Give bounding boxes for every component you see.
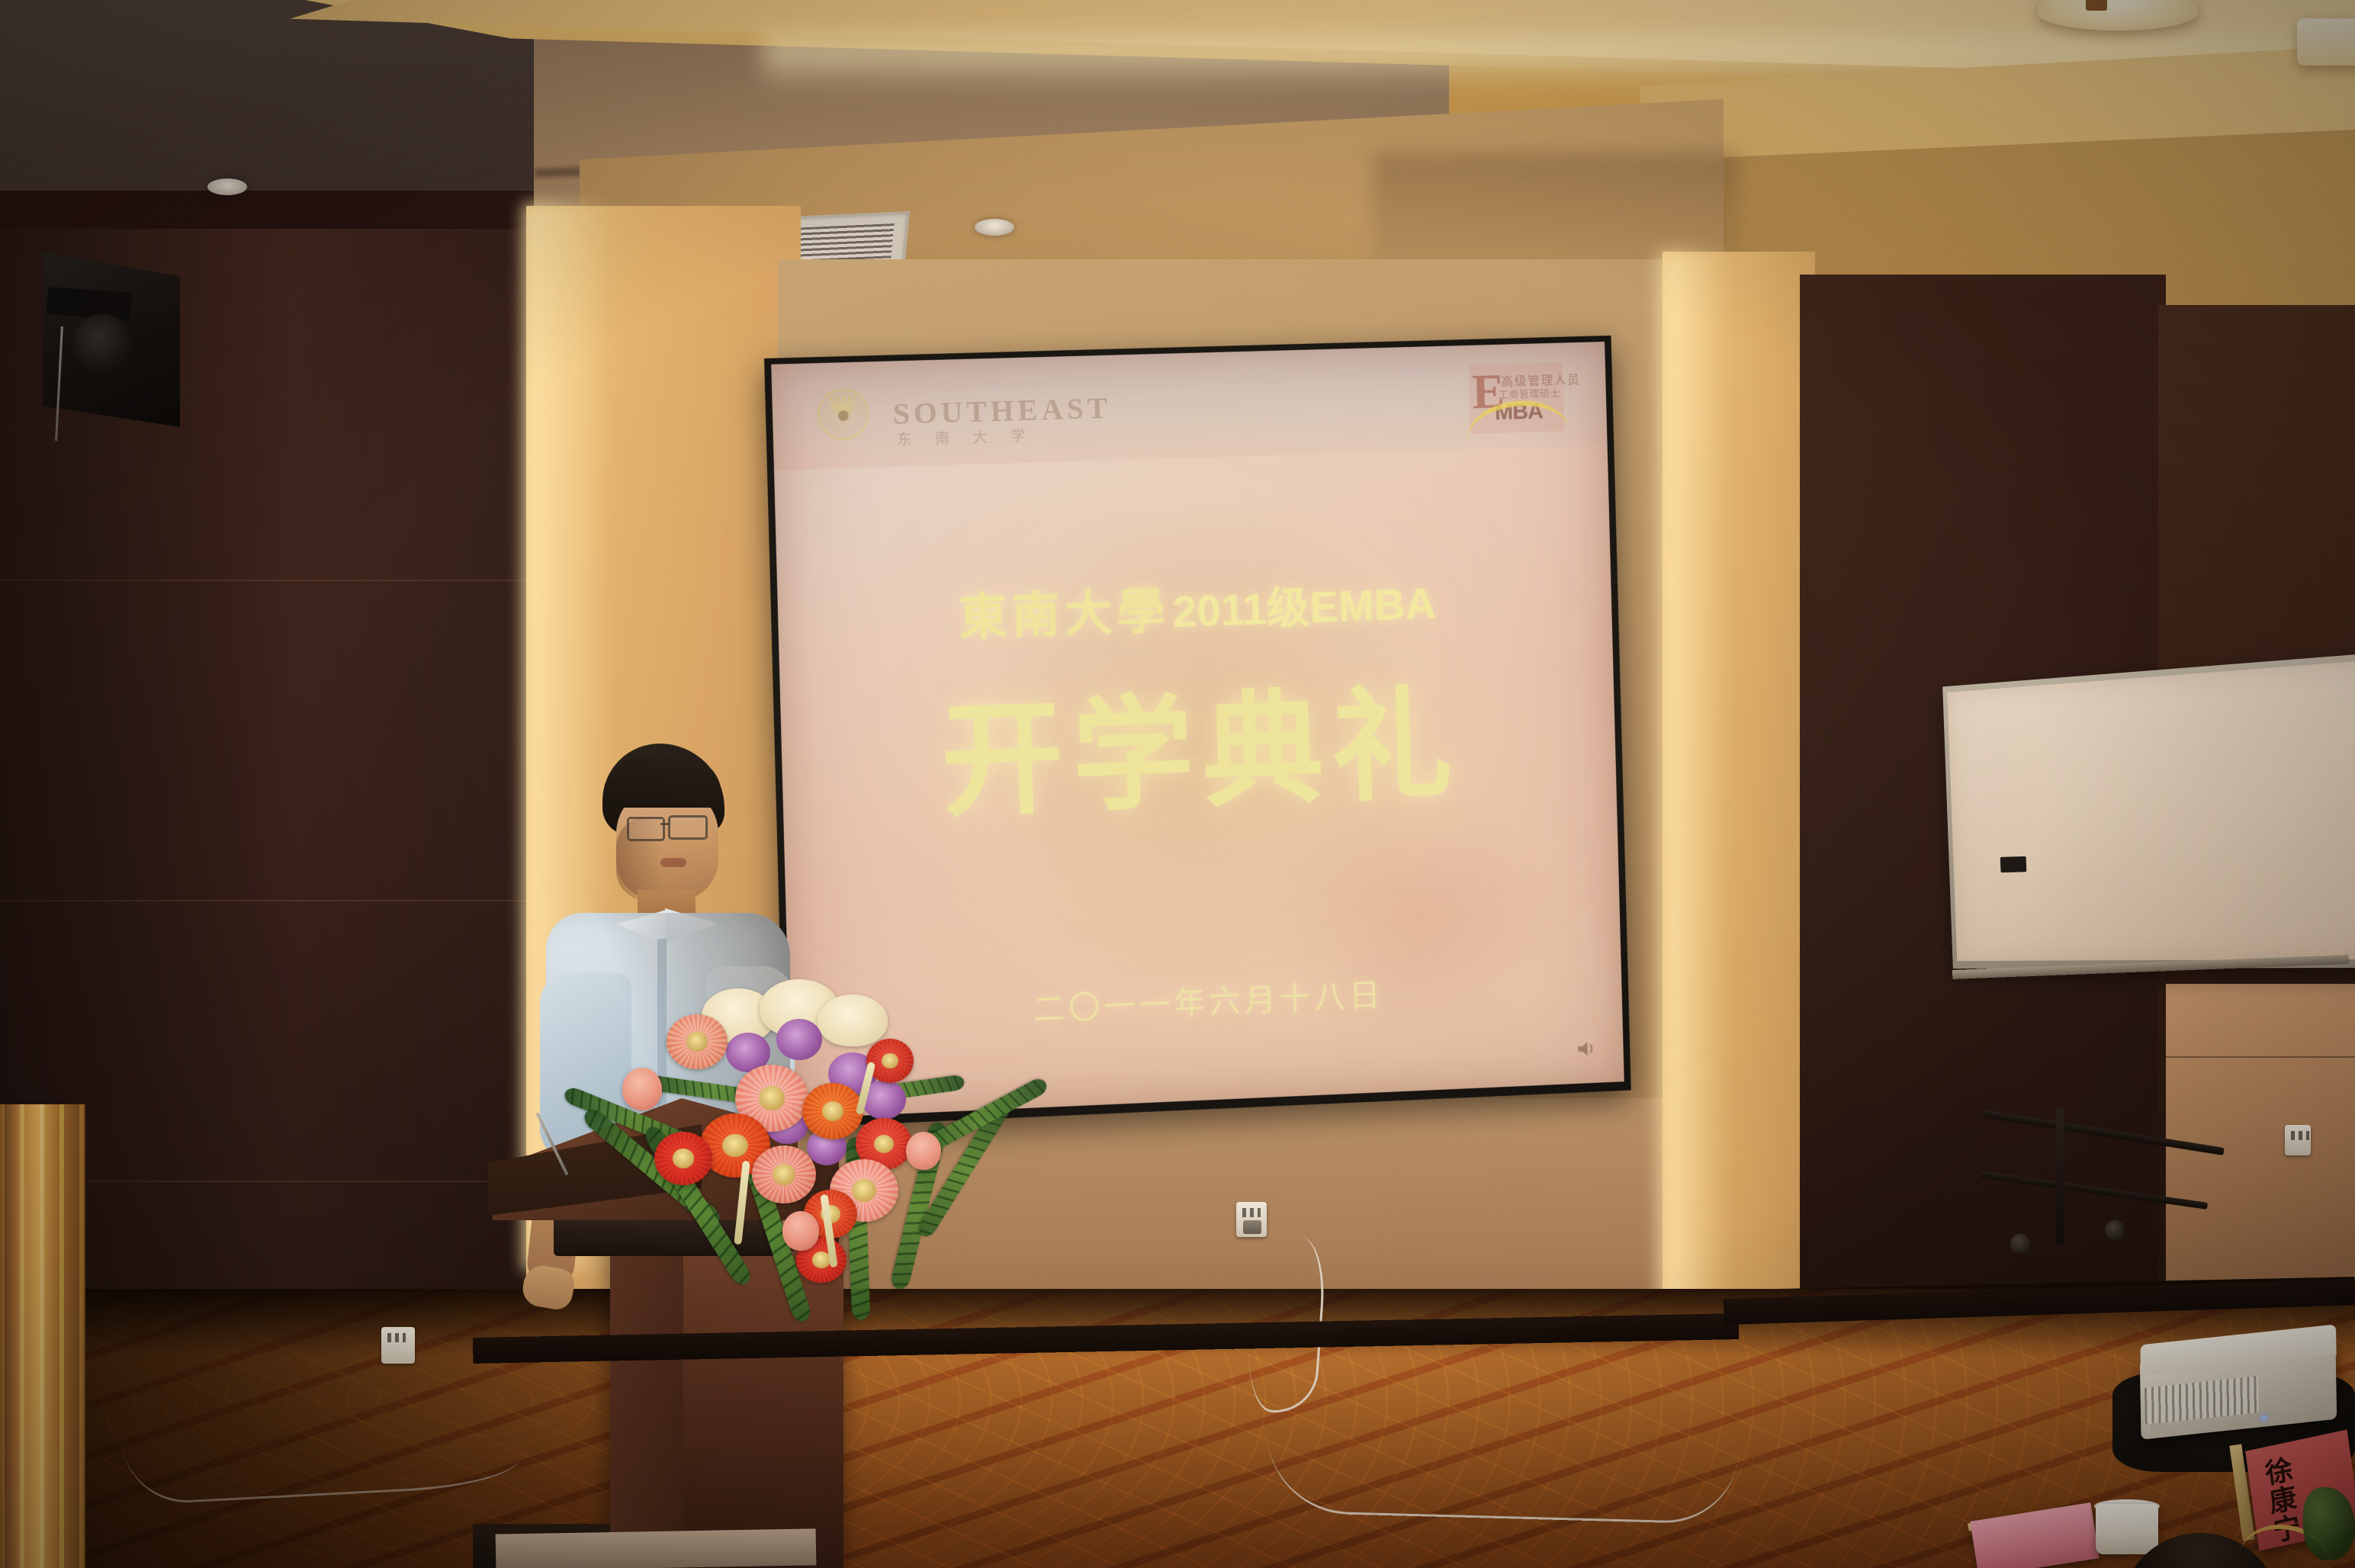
glasses-bridge — [660, 823, 670, 825]
gerbera-flower — [667, 1014, 728, 1069]
gerbera-flower — [802, 1083, 863, 1139]
wall-outlet-icon — [2285, 1125, 2311, 1155]
flower-core — [686, 1032, 708, 1052]
rose-bud — [906, 1132, 941, 1170]
rose-bud — [622, 1068, 662, 1110]
whiteboard — [1942, 653, 2355, 969]
curtain-folds — [0, 1104, 85, 1568]
glasses-icon — [668, 815, 708, 840]
trolley-caster-icon — [2010, 1234, 2030, 1254]
lily-flower — [818, 994, 888, 1046]
wall-panel-seam — [2166, 1056, 2355, 1058]
loudspeaker-cone — [73, 314, 133, 374]
wall-outlet-icon — [1236, 1202, 1267, 1237]
curtain — [0, 1104, 85, 1568]
outlet-plug — [1243, 1220, 1261, 1234]
projector-led-icon — [2260, 1415, 2267, 1422]
downlight-icon — [975, 219, 1014, 236]
flower-core — [759, 1086, 786, 1110]
trolley-caster-icon — [2105, 1220, 2125, 1240]
ceiling-fixture-icon — [2297, 18, 2355, 66]
glasses-icon — [627, 817, 665, 841]
power-cable — [1264, 1396, 1740, 1525]
speaker-fringe — [606, 757, 721, 808]
outlet-slots — [1242, 1208, 1261, 1217]
outlet-slots — [387, 1333, 406, 1342]
gerbera-flower — [654, 1132, 712, 1185]
wall-pillar-glow — [1659, 252, 1728, 1304]
conference-room-photo: SOUTHEAST 东 南 大 学 E 高级管理人员 工商管理硕士 MBA 東南… — [0, 0, 2355, 1568]
wall-outlet-icon — [381, 1327, 415, 1364]
ceiling-fixture-slot — [2086, 0, 2107, 11]
downlight-icon — [207, 178, 247, 195]
flower-core — [773, 1164, 795, 1184]
speaker-mouth — [660, 858, 686, 867]
equipment-trolley-leg — [2056, 1107, 2064, 1245]
gerbera-flower — [752, 1145, 816, 1203]
gerbera-flower — [866, 1039, 914, 1083]
flower-core — [722, 1134, 747, 1157]
projector-foot — [2151, 1423, 2166, 1435]
loudspeaker-bracket — [47, 287, 132, 320]
outlet-slots — [2291, 1131, 2309, 1140]
flower-core — [852, 1179, 876, 1202]
whiteboard-surface — [1947, 660, 2355, 961]
rose-bud — [782, 1211, 819, 1251]
tea-cup — [2096, 1504, 2158, 1554]
flower-core — [673, 1149, 693, 1168]
whiteboard-eraser-icon — [2000, 856, 2027, 872]
front-table — [496, 1528, 817, 1568]
orchid-flower — [776, 1019, 822, 1060]
